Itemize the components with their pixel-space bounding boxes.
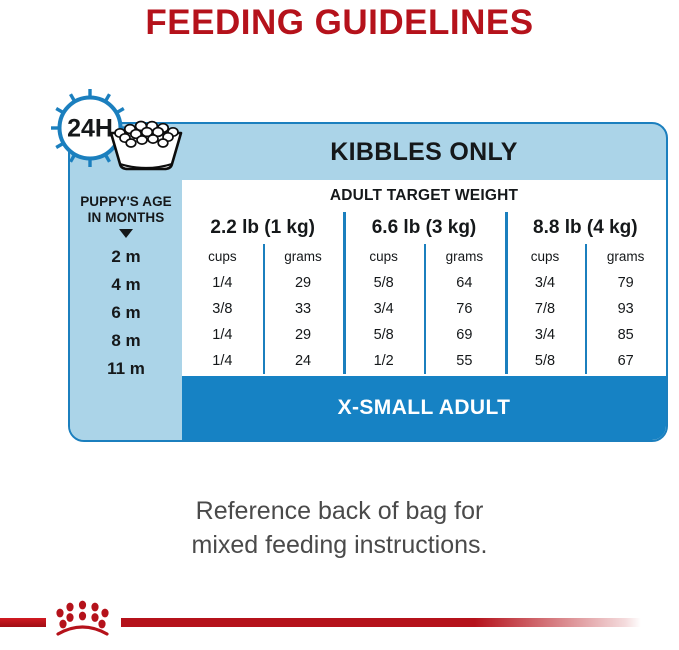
feeding-frequency-badge: 24H [48,86,208,176]
reference-note-line2: mixed feeding instructions. [0,528,679,562]
footer-bar-right [121,618,641,627]
table-cell: 29 [263,270,344,296]
age-label: 11 m [70,355,182,383]
brand-footer [0,596,679,636]
table-cell: 1/4 [182,270,263,296]
unit-header-cell: cups [343,244,424,270]
royal-canin-crown-logo [44,596,122,636]
row-group: 3/4 85 [505,322,666,348]
kibbles-only-header: KIBBLES ONLY [182,124,666,180]
weight-header-cell: 8.8 lb (4 kg) [505,212,666,244]
table-cell: 64 [424,270,505,296]
badge-label-text: 24H [67,115,113,143]
table-cell: 3/4 [343,296,424,322]
table-cell: 1/4 [182,322,263,348]
unit-header-row: cups grams cups grams cups grams [182,244,666,270]
weight-header-cell: 6.6 lb (3 kg) [343,212,504,244]
row-group: 1/4 29 [182,322,343,348]
weight-header-cell: 2.2 lb (1 kg) [182,212,343,244]
table-cell: 1/2 [343,348,424,374]
age-label: 8 m [70,327,182,355]
row-group: 3/8 33 [182,296,343,322]
table-cell: 79 [585,270,666,296]
table-cell: 3/4 [505,270,586,296]
table-cell: 67 [585,348,666,374]
reference-note-line1: Reference back of bag for [0,494,679,528]
weight-header-row: 2.2 lb (1 kg) 6.6 lb (3 kg) 8.8 lb (4 kg… [182,212,666,244]
dog-bowl-icon [111,122,181,170]
unit-header-cell: grams [424,244,505,270]
unit-header-cell: cups [505,244,586,270]
adult-stage-band: X-SMALL ADULT [182,376,666,440]
unit-header-group: cups grams [505,244,666,270]
feeding-table: ADULT TARGET WEIGHT 2.2 lb (1 kg) 6.6 lb… [182,180,666,376]
page-title: FEEDING GUIDELINES [0,0,679,46]
table-cell: 69 [424,322,505,348]
row-group: 5/8 69 [343,322,504,348]
table-cell: 5/8 [343,322,424,348]
table-row: 1/4 29 5/8 64 3/4 79 [182,270,666,296]
table-cell: 24 [263,348,344,374]
table-cell: 85 [585,322,666,348]
unit-header-cell: grams [585,244,666,270]
table-cell: 5/8 [343,270,424,296]
table-row: 1/4 24 1/2 55 5/8 67 [182,348,666,374]
table-row: 1/4 29 5/8 69 3/4 85 [182,322,666,348]
puppy-age-heading: PUPPY'S AGE IN MONTHS [70,194,182,226]
clock-and-bowl-icon: 24H [48,86,208,176]
age-label: 2 m [70,243,182,271]
unit-header-group: cups grams [182,244,343,270]
age-label: 6 m [70,299,182,327]
table-cell: 5/8 [505,348,586,374]
puppy-age-list: 2 m 4 m 6 m 8 m 11 m [70,243,182,383]
table-cell: 3/4 [505,322,586,348]
table-cell: 55 [424,348,505,374]
footer-bar-left [0,618,46,627]
unit-header-group: cups grams [343,244,504,270]
adult-target-weight-heading: ADULT TARGET WEIGHT [182,180,666,212]
table-cell: 7/8 [505,296,586,322]
down-arrow-icon [119,229,133,238]
row-group: 3/4 76 [343,296,504,322]
table-cell: 76 [424,296,505,322]
puppy-age-heading-line2: IN MONTHS [70,210,182,226]
table-cell: 1/4 [182,348,263,374]
table-cell: 93 [585,296,666,322]
table-cell: 29 [263,322,344,348]
table-cell: 3/8 [182,296,263,322]
age-label: 4 m [70,271,182,299]
row-group: 1/4 24 [182,348,343,374]
row-group: 5/8 64 [343,270,504,296]
unit-header-cell: grams [263,244,344,270]
adult-stage-label: X-SMALL ADULT [182,376,666,440]
row-group: 1/4 29 [182,270,343,296]
table-row: 3/8 33 3/4 76 7/8 93 [182,296,666,322]
row-group: 7/8 93 [505,296,666,322]
table-cell: 33 [263,296,344,322]
puppy-age-heading-line1: PUPPY'S AGE [70,194,182,210]
row-group: 5/8 67 [505,348,666,374]
reference-note: Reference back of bag for mixed feeding … [0,494,679,562]
row-group: 1/2 55 [343,348,504,374]
row-group: 3/4 79 [505,270,666,296]
unit-header-cell: cups [182,244,263,270]
